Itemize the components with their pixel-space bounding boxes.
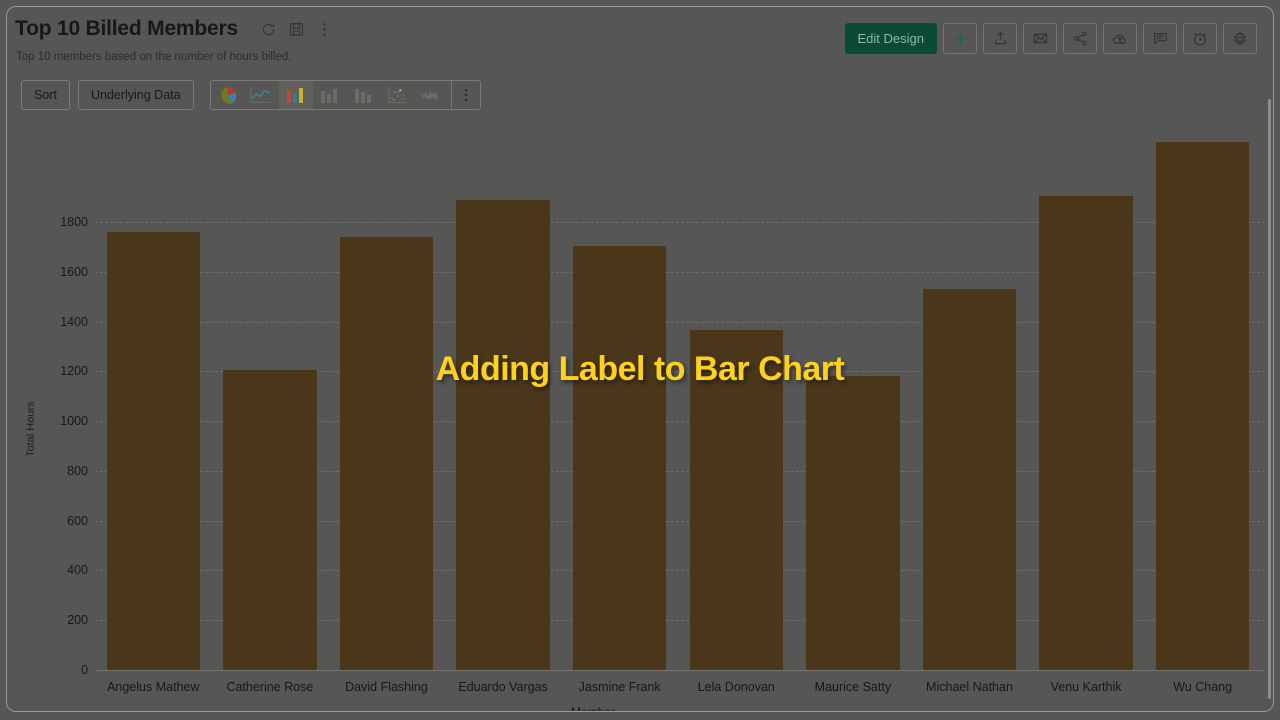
bar[interactable] — [1039, 196, 1132, 670]
map-chart-icon — [420, 87, 442, 103]
toolbar-divider — [451, 81, 452, 109]
sort-button[interactable]: Sort — [21, 80, 70, 110]
gear-icon — [1231, 30, 1249, 48]
bar[interactable] — [690, 330, 783, 670]
bar-column[interactable]: David Flashing — [340, 117, 433, 670]
page-title: Top 10 Billed Members — [15, 17, 238, 41]
x-axis-tick-label: Jasmine Frank — [579, 680, 661, 694]
bar-column[interactable]: Jasmine Frank — [573, 117, 666, 670]
chart-type-bar-stacked[interactable] — [347, 81, 381, 109]
bar-column[interactable]: Michael Nathan — [923, 117, 1016, 670]
add-button[interactable] — [943, 23, 977, 54]
envelope-icon — [1032, 30, 1049, 47]
cloud-upload-icon — [1111, 30, 1129, 48]
y-axis-tick-label: 1000 — [60, 414, 88, 428]
header-toolbar: Edit Design — [845, 23, 1257, 54]
x-axis-tick-label: Eduardo Vargas — [458, 680, 547, 694]
bar-column[interactable]: Wu Chang — [1156, 117, 1249, 670]
x-axis-tick-label: Angelus Mathew — [107, 680, 199, 694]
bar-column[interactable]: Lela Donovan — [690, 117, 783, 670]
alert-button[interactable] — [1183, 23, 1217, 54]
save-icon[interactable] — [288, 21, 305, 38]
grouped-bar-chart-icon — [319, 86, 339, 104]
comment-button[interactable] — [1143, 23, 1177, 54]
x-axis-label: Member — [571, 705, 615, 712]
kebab-menu-icon[interactable] — [316, 21, 333, 38]
export-button[interactable] — [983, 23, 1017, 54]
scatter-chart-icon — [387, 86, 408, 104]
bar-column[interactable]: Venu Karthik — [1039, 117, 1132, 670]
bar[interactable] — [456, 200, 549, 670]
y-axis-tick-label: 1800 — [60, 215, 88, 229]
title-row: Top 10 Billed Members — [15, 17, 333, 41]
email-button[interactable] — [1023, 23, 1057, 54]
y-axis-tick-label: 1200 — [60, 364, 88, 378]
column-chart-icon — [285, 86, 305, 104]
y-axis-tick-label: 400 — [67, 563, 88, 577]
page-subtitle: Top 10 members based on the number of ho… — [16, 51, 292, 63]
y-axis-tick-label: 600 — [67, 514, 88, 528]
x-axis-tick-label: Michael Nathan — [926, 680, 1013, 694]
bar[interactable] — [923, 289, 1016, 670]
pie-chart-icon — [217, 85, 238, 106]
y-axis-label: Total Hours — [25, 401, 37, 457]
title-icon-group — [260, 21, 333, 38]
bar-column[interactable]: Catherine Rose — [223, 117, 316, 670]
bar[interactable] — [223, 370, 316, 670]
edit-design-button[interactable]: Edit Design — [845, 23, 937, 54]
bar[interactable] — [1156, 142, 1249, 670]
stacked-bar-chart-icon — [353, 86, 373, 104]
y-axis-tick-label: 1400 — [60, 315, 88, 329]
bar-column[interactable]: Angelus Mathew — [107, 117, 200, 670]
vertical-scrollbar[interactable] — [1268, 99, 1271, 699]
x-axis-tick-label: Venu Karthik — [1051, 680, 1122, 694]
comment-icon — [1152, 30, 1169, 47]
add-button-group — [943, 23, 977, 54]
bar[interactable] — [806, 376, 899, 670]
refresh-icon[interactable] — [260, 21, 277, 38]
plus-icon — [952, 30, 969, 47]
action-button-group — [983, 23, 1217, 54]
chart-type-map[interactable] — [415, 81, 449, 109]
upload-box-icon — [992, 30, 1009, 47]
bar-series: Angelus MathewCatherine RoseDavid Flashi… — [95, 117, 1271, 670]
y-axis-tick-label: 1600 — [60, 265, 88, 279]
cloud-upload-button[interactable] — [1103, 23, 1137, 54]
share-nodes-icon — [1072, 30, 1089, 47]
line-chart-icon — [250, 86, 272, 104]
chart-container: Total Hours 0200400600800100012001400160… — [7, 117, 1273, 711]
x-axis-tick-label: Lela Donovan — [698, 680, 775, 694]
x-axis-tick-label: David Flashing — [345, 680, 428, 694]
chart-type-scatter[interactable] — [381, 81, 415, 109]
x-axis-tick-label: Maurice Satty — [815, 680, 891, 694]
settings-button-group — [1223, 23, 1257, 54]
chart-type-line[interactable] — [245, 81, 279, 109]
chart-type-column[interactable] — [279, 81, 313, 109]
card-header: Top 10 Billed Members — [7, 7, 1273, 69]
chart-type-group — [210, 80, 481, 110]
bar-column[interactable]: Eduardo Vargas — [456, 117, 549, 670]
underlying-data-button[interactable]: Underlying Data — [78, 80, 194, 110]
share-button[interactable] — [1063, 23, 1097, 54]
alarm-clock-icon — [1191, 30, 1209, 48]
dashboard-card: Top 10 Billed Members — [6, 6, 1274, 712]
y-axis-tick-label: 0 — [81, 663, 88, 677]
bar[interactable] — [340, 237, 433, 670]
chart-type-bar-grouped[interactable] — [313, 81, 347, 109]
app-root: Top 10 Billed Members — [0, 0, 1280, 720]
x-axis-line — [95, 670, 1265, 671]
bar[interactable] — [107, 232, 200, 670]
chart-toolbar: Sort Underlying Data — [21, 80, 481, 110]
x-axis-tick-label: Wu Chang — [1173, 680, 1232, 694]
bar[interactable] — [573, 246, 666, 670]
x-axis-tick-label: Catherine Rose — [226, 680, 313, 694]
y-axis-tick-label: 800 — [67, 464, 88, 478]
kebab-menu-icon — [458, 87, 474, 103]
y-axis-tick-label: 200 — [67, 613, 88, 627]
plot-area: 020040060080010001200140016001800 Angelu… — [95, 117, 1271, 670]
settings-button[interactable] — [1223, 23, 1257, 54]
chart-type-pie[interactable] — [211, 81, 245, 109]
bar-column[interactable]: Maurice Satty — [806, 117, 899, 670]
chart-more-options[interactable] — [454, 81, 480, 109]
